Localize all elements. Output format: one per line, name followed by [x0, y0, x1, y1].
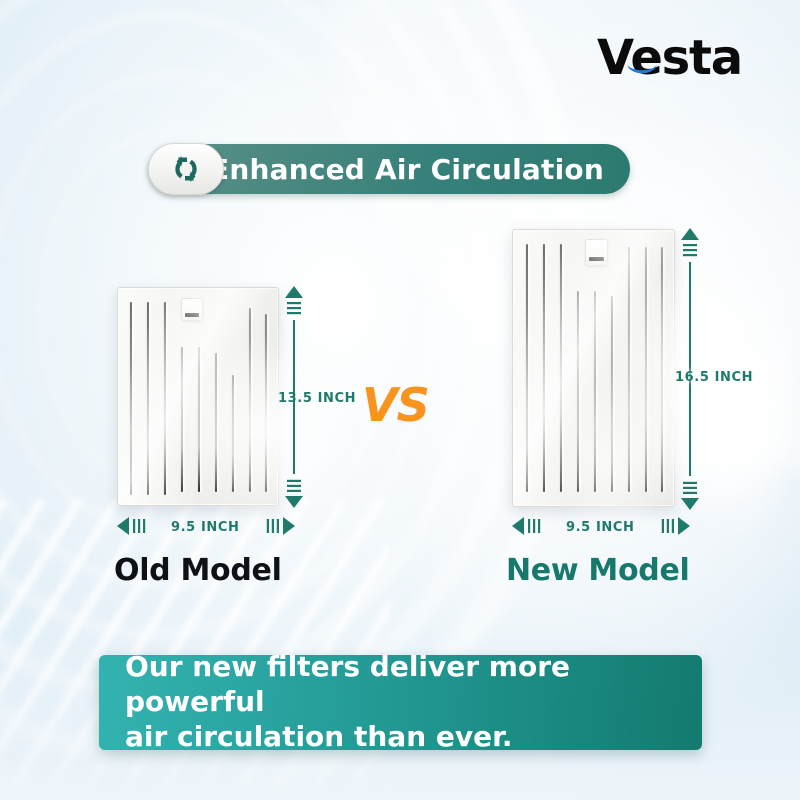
infographic-canvas: Vesta Enhanced Air Circulation: [0, 0, 800, 800]
caption-line-1: Our new filters deliver more powerful: [125, 650, 676, 719]
dimension-arrow-right-icon: [656, 515, 690, 537]
caption-banner: Our new filters deliver more powerful ai…: [99, 655, 702, 750]
brand-logo: Vesta: [597, 34, 742, 82]
dimension-arrow-left-icon: [117, 515, 151, 537]
dimension-arrow-up-icon: [679, 228, 701, 262]
new-filter-slats: [513, 230, 674, 506]
caption-text-block: Our new filters deliver more powerful ai…: [125, 650, 676, 754]
new-model-width-label: 9.5 INCH: [566, 520, 635, 535]
new-model-caption: New Model: [506, 553, 689, 588]
old-model-caption: Old Model: [114, 553, 282, 588]
dimension-shaft: [689, 262, 691, 476]
versus-label: VS: [362, 378, 429, 432]
dimension-arrow-right-icon: [261, 515, 295, 537]
new-model-height-dimension: [679, 228, 701, 510]
new-model-filter-panel: [512, 229, 675, 507]
old-model-height-label: 13.5 INCH: [278, 391, 356, 406]
circulation-icon-chip: [148, 143, 224, 195]
new-filter-latch: [585, 239, 608, 266]
dimension-arrow-up-icon: [283, 286, 305, 320]
old-model-filter-panel: [117, 287, 279, 506]
old-model-width-label: 9.5 INCH: [171, 520, 240, 535]
old-filter-latch: [181, 298, 203, 321]
circular-arrows-icon: [169, 153, 203, 185]
caption-line-2: air circulation than ever.: [125, 720, 676, 755]
logo-swoosh-icon: [626, 63, 658, 78]
dimension-arrow-left-icon: [512, 515, 546, 537]
dimension-arrow-down-icon: [283, 474, 305, 508]
headline-text: Enhanced Air Circulation: [210, 153, 604, 186]
brand-wordmark: Vesta: [597, 34, 742, 82]
dimension-arrow-down-icon: [679, 476, 701, 510]
